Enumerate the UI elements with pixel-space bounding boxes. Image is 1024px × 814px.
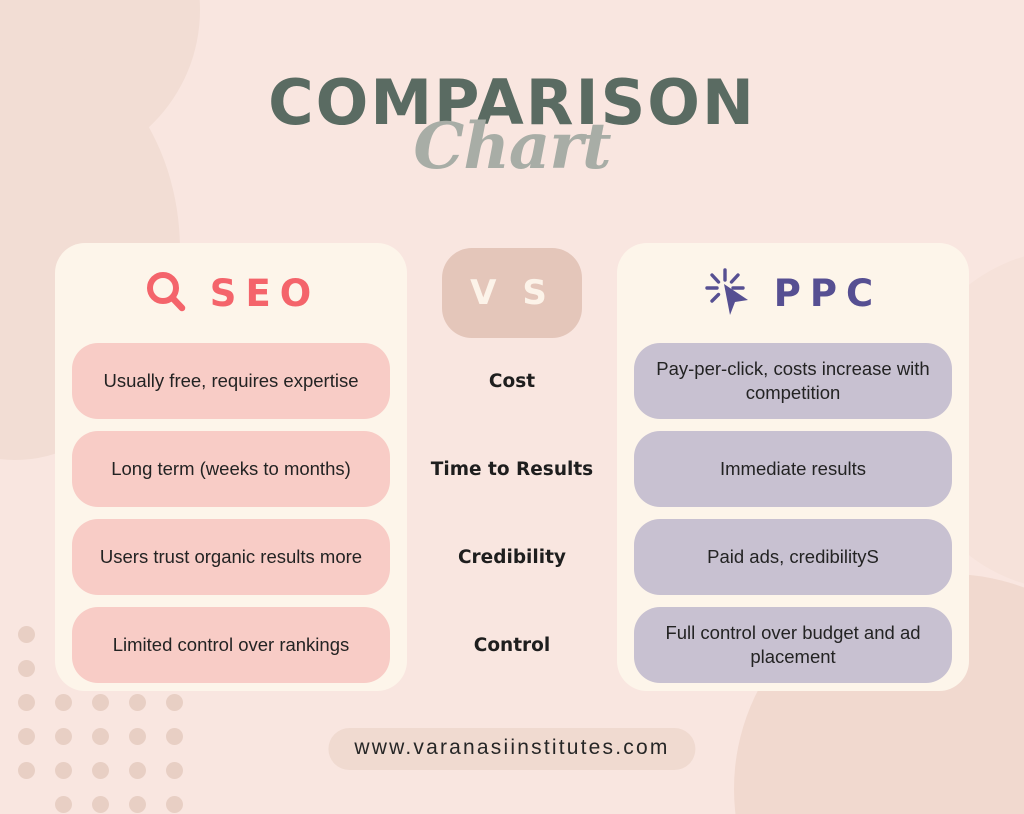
decorative-dot bbox=[92, 762, 109, 779]
decorative-dot bbox=[18, 694, 35, 711]
footer-website-text: www.varanasiinstitutes.com bbox=[354, 736, 669, 759]
ppc-title: PPC bbox=[774, 272, 882, 315]
decorative-dot bbox=[129, 694, 146, 711]
decorative-dot bbox=[18, 762, 35, 779]
ppc-cell: Full control over budget and ad placemen… bbox=[634, 607, 952, 683]
comparison-board: SEO Usually free, requires expertiseLong… bbox=[0, 243, 1024, 693]
decorative-dot bbox=[55, 694, 72, 711]
decorative-dot bbox=[166, 694, 183, 711]
decorative-dot bbox=[55, 762, 72, 779]
footer-website-pill[interactable]: www.varanasiinstitutes.com bbox=[328, 728, 695, 770]
ppc-cell: Pay-per-click, costs increase with compe… bbox=[634, 343, 952, 419]
decorative-dot bbox=[55, 728, 72, 745]
decorative-dot bbox=[129, 796, 146, 813]
page-title: COMPARISON Chart bbox=[0, 72, 1024, 182]
magnifier-icon bbox=[142, 268, 192, 318]
click-cursor-icon bbox=[704, 267, 756, 319]
seo-cell: Limited control over rankings bbox=[72, 607, 390, 683]
decorative-dot bbox=[92, 796, 109, 813]
decorative-dot bbox=[92, 694, 109, 711]
decorative-dot bbox=[55, 796, 72, 813]
decorative-dot bbox=[129, 728, 146, 745]
criteria-label: Control bbox=[417, 607, 607, 683]
ppc-column-header: PPC bbox=[617, 243, 969, 343]
ppc-column-card: PPC Pay-per-click, costs increase with c… bbox=[617, 243, 969, 691]
seo-cell: Long term (weeks to months) bbox=[72, 431, 390, 507]
decorative-dot bbox=[166, 728, 183, 745]
seo-title: SEO bbox=[210, 272, 320, 315]
decorative-dot bbox=[166, 796, 183, 813]
title-script-text: Chart bbox=[0, 112, 1024, 182]
ppc-rows: Pay-per-click, costs increase with compe… bbox=[617, 343, 969, 683]
decorative-dot bbox=[129, 762, 146, 779]
decorative-dot bbox=[18, 728, 35, 745]
vs-badge: V S bbox=[442, 248, 582, 338]
decorative-dot bbox=[166, 762, 183, 779]
seo-cell: Users trust organic results more bbox=[72, 519, 390, 595]
comparison-chart-poster: COMPARISON Chart SEO Usually free, requi… bbox=[0, 0, 1024, 814]
criteria-rows: CostTime to ResultsCredibilityControl bbox=[417, 343, 607, 683]
criteria-column: V S CostTime to ResultsCredibilityContro… bbox=[417, 243, 607, 691]
criteria-label: Cost bbox=[417, 343, 607, 419]
ppc-cell: Immediate results bbox=[634, 431, 952, 507]
ppc-cell: Paid ads, credibilityS bbox=[634, 519, 952, 595]
decorative-dot bbox=[92, 728, 109, 745]
criteria-label: Credibility bbox=[417, 519, 607, 595]
seo-column-header: SEO bbox=[55, 243, 407, 343]
seo-column-card: SEO Usually free, requires expertiseLong… bbox=[55, 243, 407, 691]
seo-rows: Usually free, requires expertiseLong ter… bbox=[55, 343, 407, 683]
criteria-label: Time to Results bbox=[417, 431, 607, 507]
seo-cell: Usually free, requires expertise bbox=[72, 343, 390, 419]
